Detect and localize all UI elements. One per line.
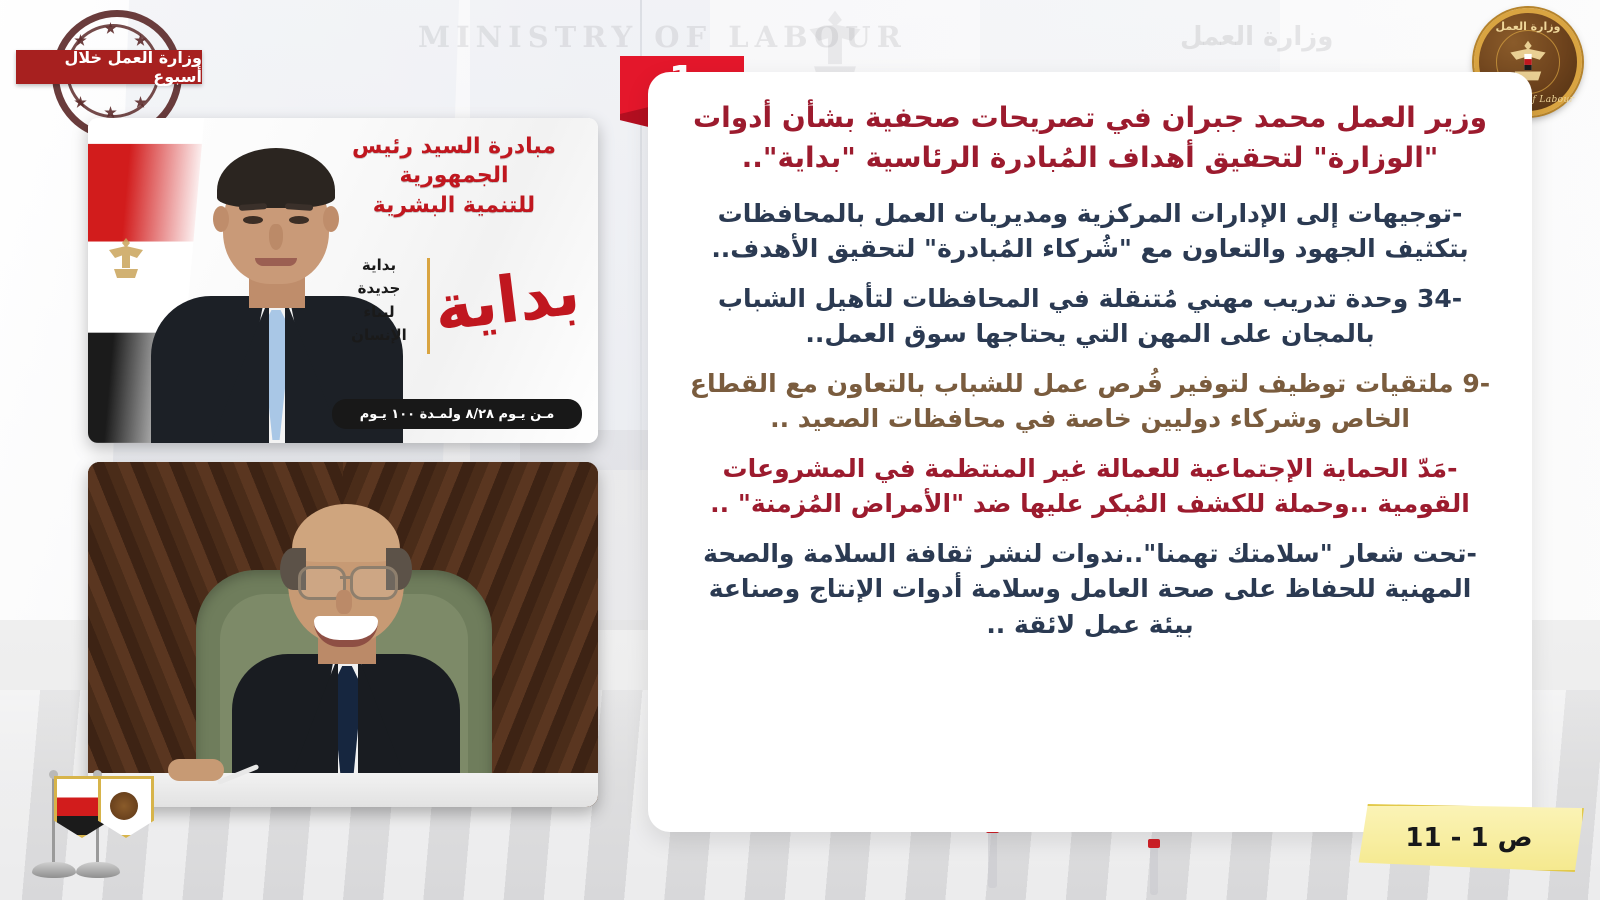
poster-title-line-1: مبادرة السيد رئيس الجمهورية bbox=[324, 132, 584, 191]
poster-slogan-line-2: جديدة bbox=[336, 277, 422, 300]
poster-slogan: بداية جديدة لبناء الإنسان bbox=[336, 254, 422, 347]
poster-slogan-line-4: الإنسان bbox=[336, 324, 422, 347]
ministry-weekly-stamp: وزارة العمل خلال أسبوع bbox=[10, 8, 210, 128]
desk-flags bbox=[18, 742, 148, 882]
bullet-item: -تحت شعار "سلامتك تهمنا"..ندوات لنشر ثقا… bbox=[682, 536, 1498, 643]
minister-portrait bbox=[236, 504, 456, 807]
eagle-icon bbox=[106, 236, 146, 280]
background-bollard bbox=[988, 830, 997, 888]
poster-slogan-line-1: بداية bbox=[336, 254, 422, 277]
poster-date-banner: مـن يـوم ٨/٢٨ ولمـدة ١٠٠ يـوم bbox=[332, 399, 582, 429]
bidaya-logo: بداية bbox=[426, 237, 588, 364]
poster-title-line-2: للتنمية البشرية bbox=[324, 191, 584, 220]
page-indicator-label: ص 1 - 11 bbox=[1405, 823, 1532, 853]
portrait-eye bbox=[243, 216, 263, 224]
watermark-label-arabic: وزارة العمل bbox=[1180, 22, 1333, 52]
initiative-poster-image: مبادرة السيد رئيس الجمهورية للتنمية البش… bbox=[88, 118, 598, 443]
page-indicator-banner: ص 1 - 11 bbox=[1354, 804, 1584, 872]
bullet-list: -توجيهات إلى الإدارات المركزية ومديريات … bbox=[682, 196, 1498, 643]
emblem-label-arabic: وزارة العمل bbox=[1479, 20, 1577, 33]
portrait-scalp bbox=[292, 504, 400, 562]
headline: وزير العمل محمد جبران في تصريحات صحفية ب… bbox=[682, 98, 1498, 178]
poster-date-label: مـن يـوم ٨/٢٨ ولمـدة ١٠٠ يـوم bbox=[360, 407, 555, 422]
portrait-nose bbox=[336, 590, 352, 614]
portrait-mouth bbox=[255, 258, 297, 266]
eyeglasses-icon bbox=[350, 566, 398, 600]
bullet-item: -توجيهات إلى الإدارات المركزية ومديريات … bbox=[682, 196, 1498, 267]
poster-title: مبادرة السيد رئيس الجمهورية للتنمية البش… bbox=[324, 132, 584, 220]
watermark-label-english: MINISTRY OF LABOUR bbox=[418, 20, 1038, 54]
portrait-eye bbox=[289, 216, 309, 224]
stamp-banner: وزارة العمل خلال أسبوع bbox=[16, 50, 202, 84]
content-card: وزير العمل محمد جبران في تصريحات صحفية ب… bbox=[648, 72, 1532, 832]
portrait-hair bbox=[217, 148, 335, 208]
portrait-hand bbox=[168, 759, 224, 781]
portrait-ear bbox=[213, 206, 229, 232]
flag-base bbox=[32, 862, 76, 878]
poster-divider bbox=[427, 258, 430, 354]
stamp-label: وزارة العمل خلال أسبوع bbox=[16, 48, 202, 86]
ministry-flag-emblem bbox=[110, 792, 138, 820]
eyeglasses-bridge bbox=[340, 576, 352, 579]
bullet-item: -34 وحدة تدريب مهني مُتنقلة في المحافظات… bbox=[682, 281, 1498, 352]
poster-slogan-line-3: لبناء bbox=[336, 301, 422, 324]
background-bollard bbox=[1150, 845, 1158, 895]
bullet-item: -مَدّ الحماية الإجتماعية للعمالة غير الم… bbox=[682, 451, 1498, 522]
desk-surface bbox=[88, 773, 598, 807]
minister-photo bbox=[88, 462, 598, 807]
bullet-item: -9 ملتقيات توظيف لتوفير فُرص عمل للشباب … bbox=[682, 366, 1498, 437]
flag-base bbox=[76, 862, 120, 878]
slide-root: MINISTRY OF LABOUR وزارة العمل وزارة الع… bbox=[0, 0, 1600, 900]
portrait-nose bbox=[269, 224, 283, 250]
